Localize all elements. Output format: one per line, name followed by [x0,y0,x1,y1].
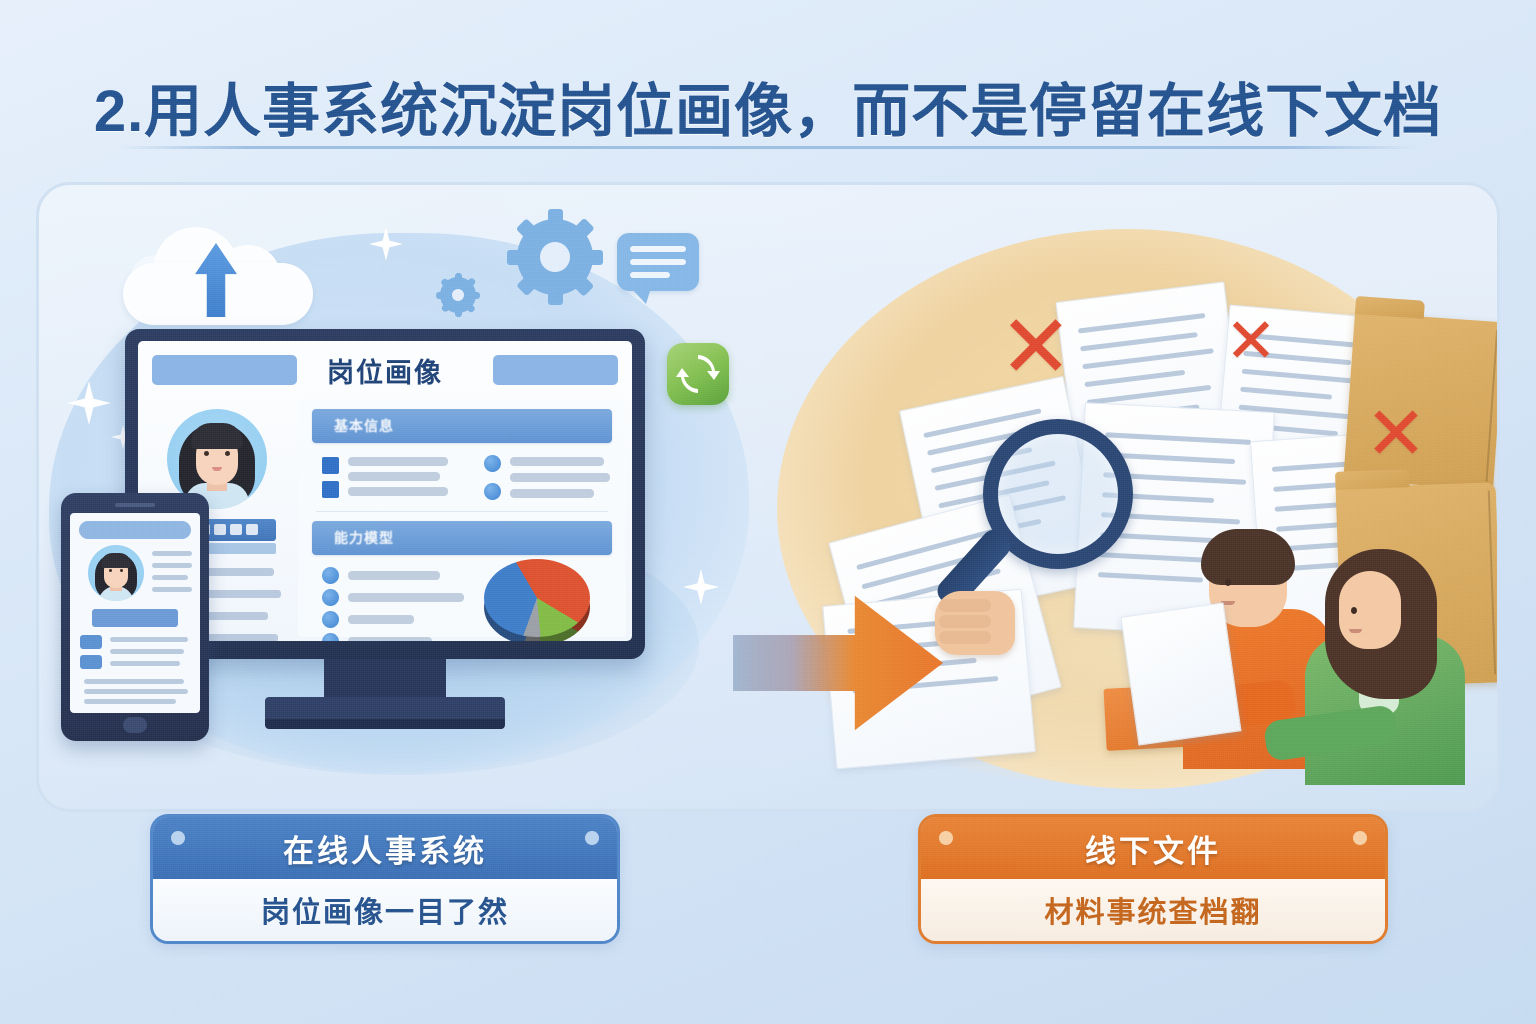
text-bar [110,637,188,642]
text-bar [84,699,176,704]
phone-name-tag [92,609,178,627]
section-header-model-label: 能力模型 [334,528,394,548]
section-header-basic-label: 基本信息 [334,416,394,436]
text-bar [510,457,604,466]
text-bar [84,689,188,694]
bullet-square [322,457,339,474]
illustration-stage: 岗位画像 [36,182,1500,812]
dashboard-body: 基本信息 能力模型 [138,397,632,641]
hand-holding-magnifier [935,591,1015,655]
section-header-model: 能力模型 [312,521,612,555]
text-bar [510,489,594,498]
phone-list-chip [80,635,102,649]
text-bar [348,487,448,496]
person-male-hair [1201,529,1295,585]
person-female-face [1339,571,1401,649]
bullet-dot [322,633,339,641]
text-bar [152,587,192,592]
dashboard-title: 岗位画像 [138,351,632,390]
text-bar [348,593,464,602]
text-bar [348,637,432,641]
red-x-icon: ✕ [1365,397,1427,471]
text-bar [110,649,184,654]
text-bar [348,457,448,466]
text-bar [84,679,184,684]
pie-chart [484,559,590,637]
phone-home-button[interactable] [123,717,147,733]
phone-header-pill [79,521,191,539]
title-underline [118,146,1418,149]
phone-speaker [115,503,155,507]
gear-icon [517,219,593,295]
left-summary-card: 在线人事系统 岗位画像一目了然 [150,814,620,944]
dashboard-header: 岗位画像 [138,341,632,393]
bullet-dot [322,611,339,628]
held-document [1120,602,1241,745]
text-bar [152,575,188,580]
page-title-container: 2.用人事系统沉淀岗位画像，而不是停留在线下文档 [0,64,1536,148]
section-divider [316,511,608,512]
bullet-dot [484,483,501,500]
right-card-header: 线下文件 [921,817,1385,879]
section-header-basic: 基本信息 [312,409,612,443]
cloud-upload-icon [123,221,323,331]
monitor-screen: 岗位画像 [138,341,632,641]
text-bar [348,615,414,624]
left-card-subtext: 岗位画像一目了然 [153,879,617,941]
bullet-square [322,481,339,498]
phone-list-chip [80,655,102,669]
text-bar [152,563,192,568]
detail-panel: 基本信息 能力模型 [298,399,626,637]
text-bar [110,661,180,666]
left-card-header: 在线人事系统 [153,817,617,879]
red-x-icon: ✕ [999,303,1073,391]
person-female [1301,531,1500,781]
sync-refresh-icon[interactable] [667,343,729,405]
monitor-base-shadow [265,719,505,729]
right-card-heading: 线下文件 [921,817,1385,879]
text-bar [348,571,440,580]
avatar [88,545,144,601]
bullet-dot [484,455,501,472]
gear-small-icon [440,277,476,313]
page-title: 2.用人事系统沉淀岗位画像，而不是停留在线下文档 [0,64,1536,148]
right-summary-card: 线下文件 材料事统查档翻 [918,814,1388,944]
text-bar [348,472,440,481]
red-x-icon: ✕ [1225,311,1277,373]
phone-screen [70,513,200,713]
pie-chart-top [484,559,590,637]
bullet-dot [322,567,339,584]
left-card-heading: 在线人事系统 [153,817,617,879]
text-bar [510,473,610,482]
chat-bubble-icon [617,233,699,291]
right-card-subtext: 材料事统查档翻 [921,879,1385,941]
text-bar [152,551,192,556]
monitor-neck [324,659,446,701]
bullet-dot [322,589,339,606]
